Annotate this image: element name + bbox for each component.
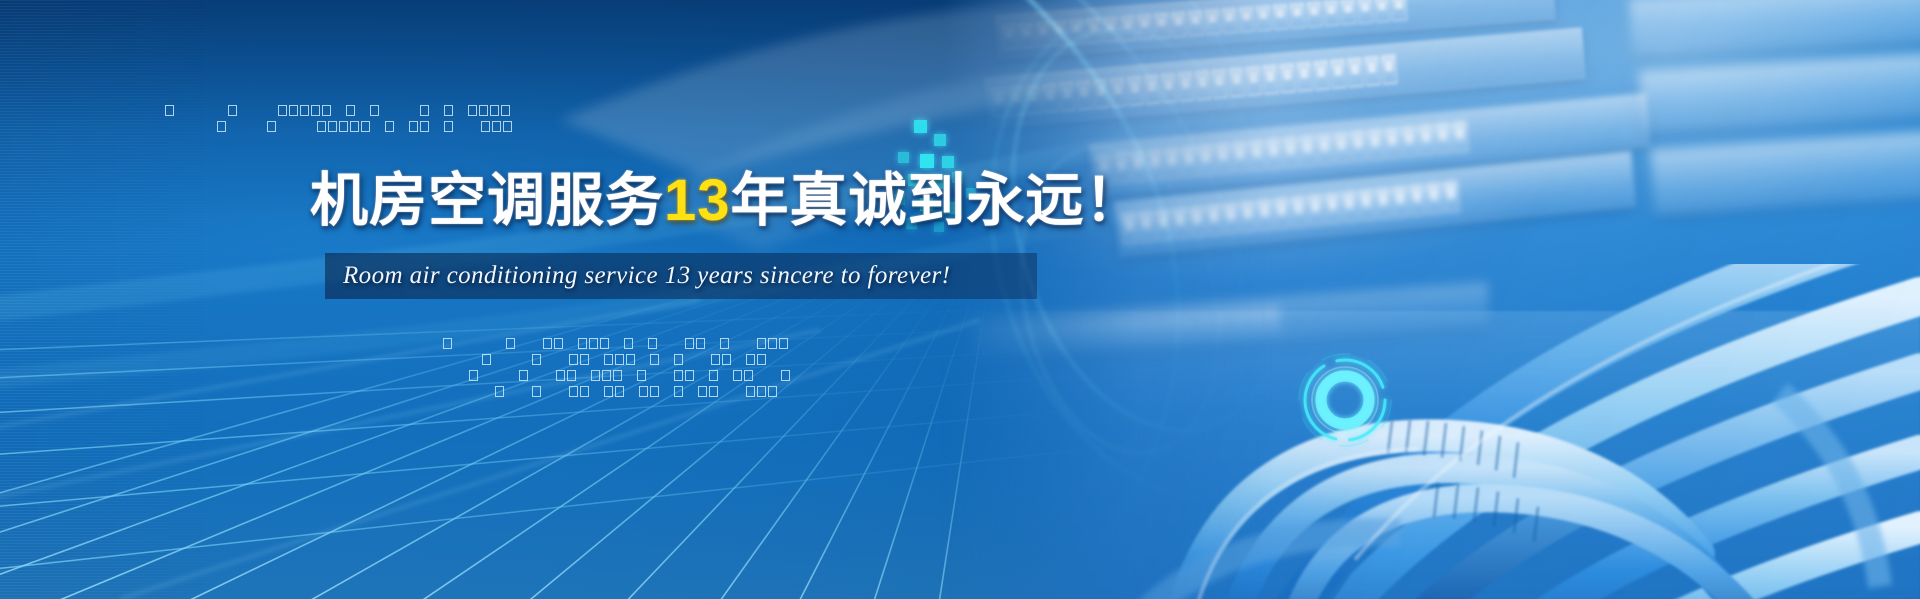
headline-prefix: 机房空调服务 bbox=[310, 168, 664, 233]
hero-banner: 机房空调服务13年真诚到永远！ Room air conditioning se… bbox=[0, 0, 1920, 599]
page-title: 机房空调服务13年真诚到永远！ bbox=[310, 168, 1144, 234]
headline-suffix: 年真诚到永远！ bbox=[731, 168, 1144, 233]
subtitle: Room air conditioning service 13 years s… bbox=[343, 255, 1033, 297]
headline-highlight-number: 13 bbox=[664, 168, 731, 233]
banner-copy: 机房空调服务13年真诚到永远！ Room air conditioning se… bbox=[0, 0, 1920, 599]
